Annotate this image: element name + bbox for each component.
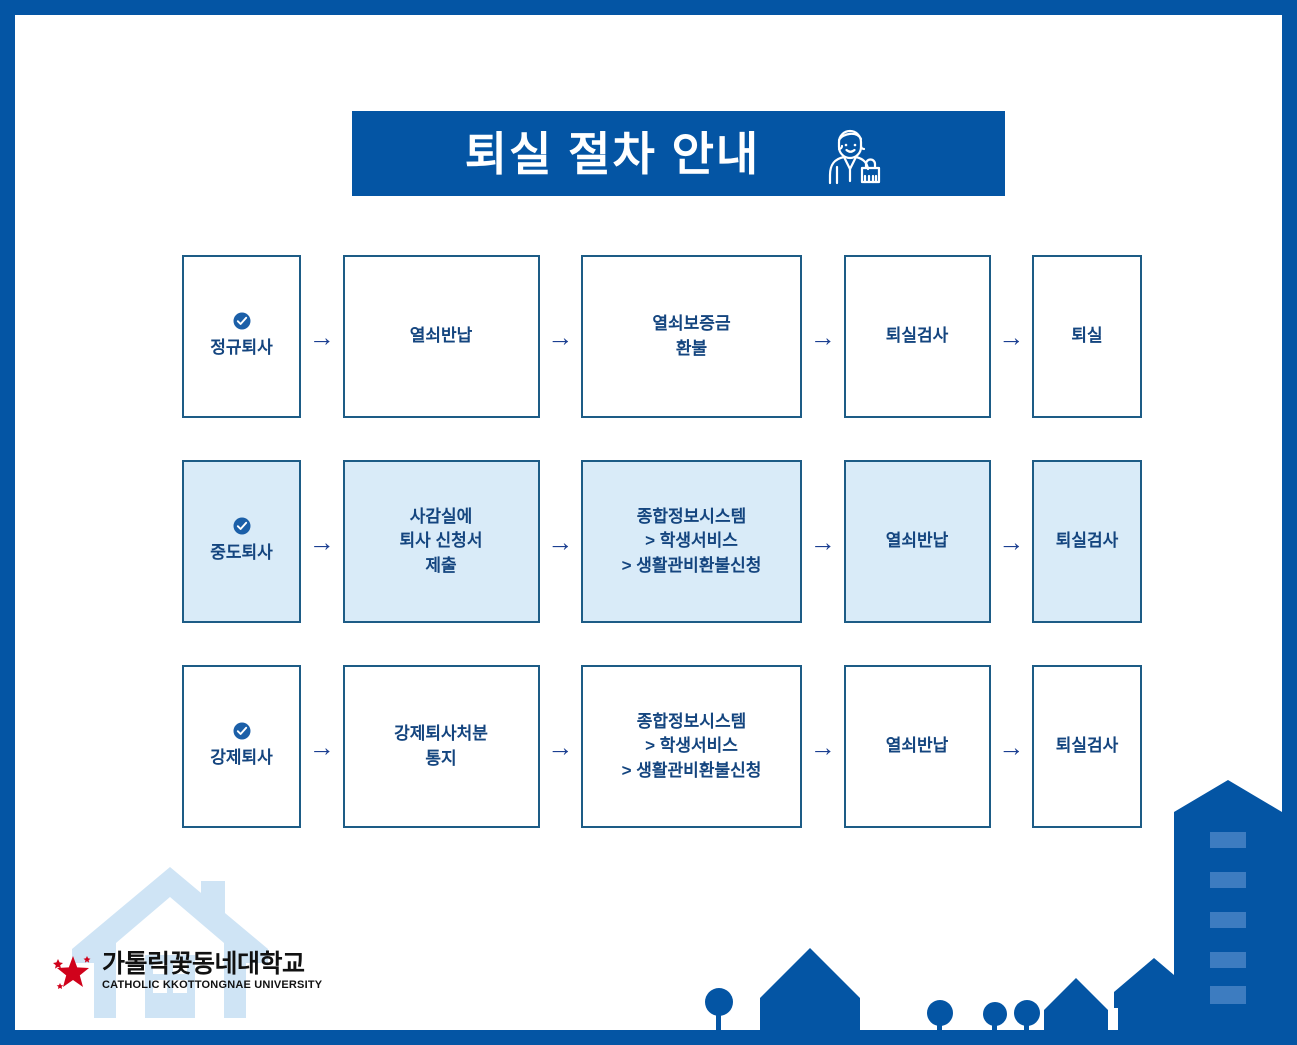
flow-step-box: 사감실에 퇴사 신청서 제출 [343,460,540,623]
flow-step-box: 열쇠반납 [343,255,540,418]
flow-step-box: 열쇠반납 [844,665,991,828]
flow-arrow: → [991,665,1033,828]
check-circle-icon [233,312,251,336]
check-circle-icon [233,722,251,746]
flow-step-label: 열쇠반납 [880,529,955,554]
person-with-luggage-icon [820,123,882,185]
flow-step-label: 열쇠반납 [404,324,479,349]
flow-row-early-checkout: 중도퇴사→사감실에 퇴사 신청서 제출→종합정보시스템 > 학생서비스 > 생활… [182,460,1142,623]
flow-arrow: → [301,255,343,418]
flow-arrow: → [802,665,844,828]
flow-step-label: 종합정보시스템 > 학생서비스 > 생활관비환불신청 [616,505,768,579]
flow-step-label: 강제퇴사처분 통지 [388,722,494,771]
flow-arrow: → [991,460,1033,623]
flow-step-label: 퇴실 [1065,324,1108,349]
flow-step-label: 퇴실검사 [880,324,955,349]
flow-step-label: 사감실에 퇴사 신청서 제출 [394,505,489,579]
flow-step-label: 중도퇴사 [204,541,279,566]
page-title: 퇴실 절차 안내 [465,131,760,177]
flow-step-label: 정규퇴사 [204,336,279,361]
flow-row-regular-checkout: 정규퇴사→열쇠반납→열쇠보증금 환불→퇴실검사→퇴실 [182,255,1142,418]
flow-step-box: 열쇠반납 [844,460,991,623]
flow-step-box: 강제퇴사 [182,665,301,828]
logo-text-block: 가톨릭꽃동네대학교 CATHOLIC KKOTTONGNAE UNIVERSIT… [102,952,322,991]
flow-step-box: 퇴실검사 [1032,665,1142,828]
flow-arrow: → [802,460,844,623]
flow-step-box: 강제퇴사처분 통지 [343,665,540,828]
flow-step-label: 퇴실검사 [1050,529,1125,554]
star-icon [51,950,93,992]
flow-arrow: → [802,255,844,418]
flow-step-box: 종합정보시스템 > 학생서비스 > 생활관비환불신청 [581,460,802,623]
flow-arrow: → [540,255,582,418]
flow-arrow: → [540,665,582,828]
logo-name-korean: 가톨릭꽃동네대학교 [102,952,322,977]
house-watermark-icon [63,863,278,1018]
flow-step-box: 열쇠보증금 환불 [581,255,802,418]
flow-step-box: 퇴실검사 [1032,460,1142,623]
flow-arrow: → [301,460,343,623]
flow-step-label: 열쇠보증금 환불 [646,312,736,361]
flow-arrow: → [991,255,1033,418]
flow-step-box: 종합정보시스템 > 학생서비스 > 생활관비환불신청 [581,665,802,828]
university-logo: 가톨릭꽃동네대학교 CATHOLIC KKOTTONGNAE UNIVERSIT… [51,950,322,992]
flow-arrow: → [540,460,582,623]
page-title-bar: 퇴실 절차 안내 [352,111,1005,196]
flow-step-label: 강제퇴사 [204,746,279,771]
logo-name-english: CATHOLIC KKOTTONGNAE UNIVERSITY [102,980,322,991]
poster-canvas: 퇴실 절차 안내 정규퇴사→열쇠반납→열쇠보증금 환불→퇴실검사 [0,0,1297,1045]
flow-step-label: 퇴실검사 [1050,734,1125,759]
flow-step-box: 퇴실 [1032,255,1142,418]
check-circle-icon [233,517,251,541]
flow-arrow: → [301,665,343,828]
flow-step-box: 정규퇴사 [182,255,301,418]
flow-step-box: 퇴실검사 [844,255,991,418]
flow-row-forced-checkout: 강제퇴사→강제퇴사처분 통지→종합정보시스템 > 학생서비스 > 생활관비환불신… [182,665,1142,828]
flow-step-box: 중도퇴사 [182,460,301,623]
flow-step-label: 열쇠반납 [880,734,955,759]
flow-step-label: 종합정보시스템 > 학생서비스 > 생활관비환불신청 [616,710,768,784]
